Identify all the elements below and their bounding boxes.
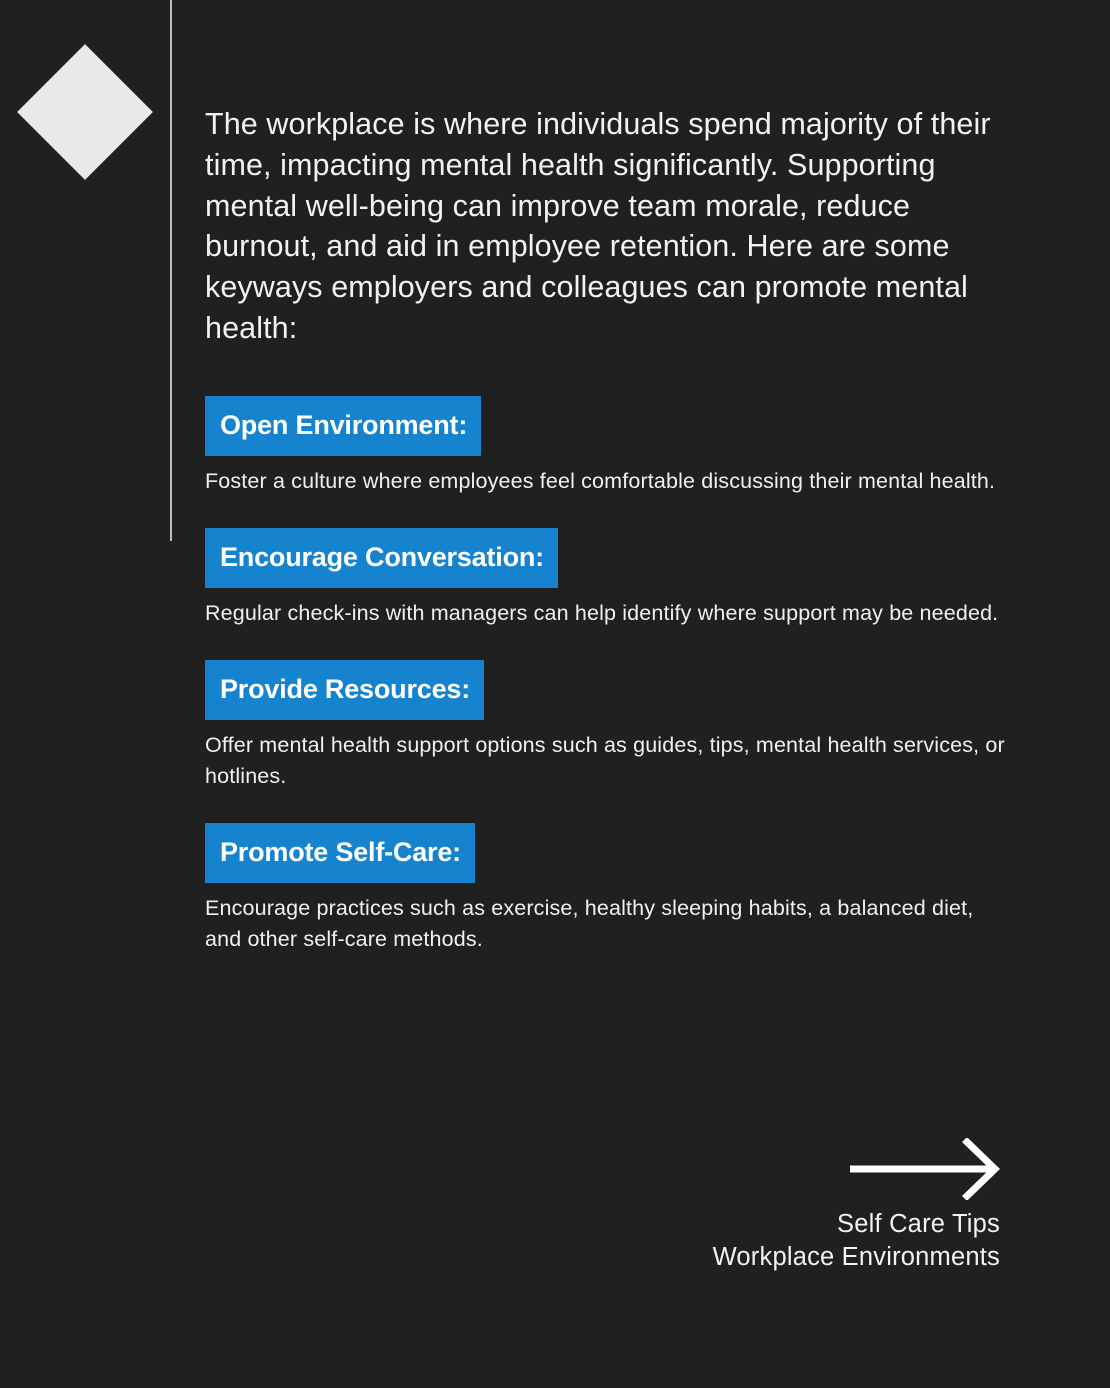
content-column: The workplace is where individuals spend… <box>205 0 1005 955</box>
slide-root: { "theme": { "background": "#202020", "a… <box>0 0 1110 1388</box>
tip-body-provide-resources: Offer mental health support options such… <box>205 730 1005 792</box>
footer-block: Self Care Tips Workplace Environments <box>640 1138 1000 1274</box>
tip-heading-provide-resources: Provide Resources: <box>205 660 484 720</box>
arrow-right-icon <box>640 1138 1000 1208</box>
tips-list: Open Environment: Foster a culture where… <box>205 396 1005 955</box>
tip-item: Open Environment: Foster a culture where… <box>205 396 1005 497</box>
footer-line-workplace-environments: Workplace Environments <box>640 1241 1000 1274</box>
tip-body-promote-self-care: Encourage practices such as exercise, he… <box>205 893 1005 955</box>
tip-item: Promote Self-Care: Encourage practices s… <box>205 823 1005 955</box>
tip-heading-encourage-conversation: Encourage Conversation: <box>205 528 558 588</box>
diamond-shape-icon <box>17 44 153 180</box>
tip-body-encourage-conversation: Regular check-ins with managers can help… <box>205 598 1005 629</box>
tip-body-open-environment: Foster a culture where employees feel co… <box>205 466 1005 497</box>
tip-item: Encourage Conversation: Regular check-in… <box>205 528 1005 629</box>
tip-heading-open-environment: Open Environment: <box>205 396 481 456</box>
intro-paragraph: The workplace is where individuals spend… <box>205 104 995 349</box>
vertical-divider <box>170 0 172 541</box>
tip-item: Provide Resources: Offer mental health s… <box>205 660 1005 792</box>
footer-line-self-care-tips: Self Care Tips <box>640 1208 1000 1241</box>
tip-heading-promote-self-care: Promote Self-Care: <box>205 823 475 883</box>
